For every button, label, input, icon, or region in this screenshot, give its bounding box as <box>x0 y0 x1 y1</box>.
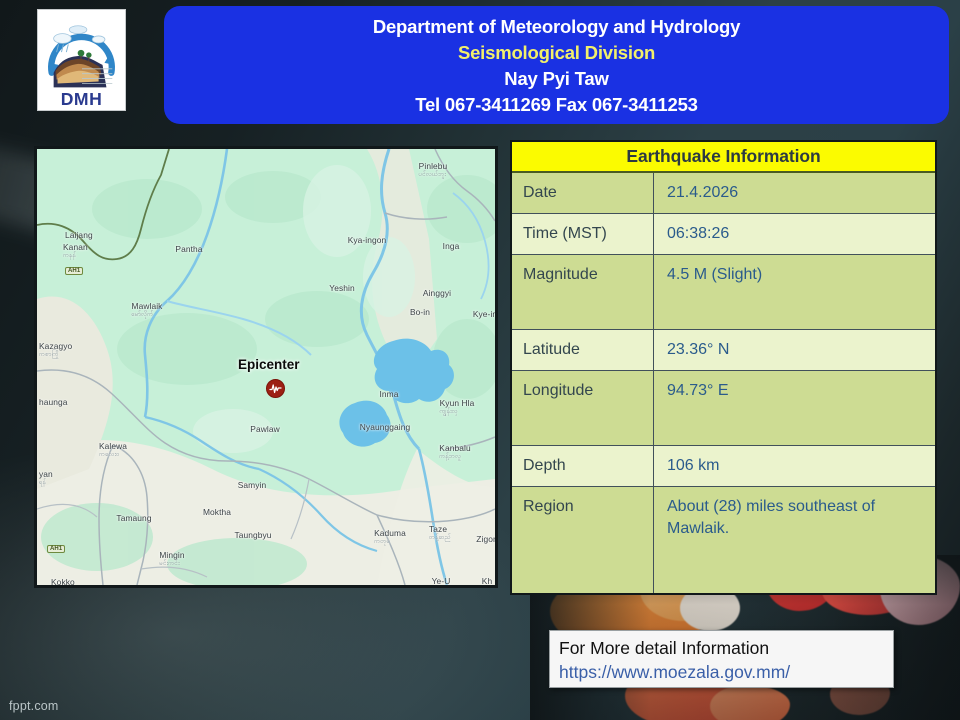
row-value: 4.5 M (Slight) <box>654 255 935 329</box>
dmh-logo: DMH <box>37 9 126 111</box>
header-line-department: Department of Meteorology and Hydrology <box>373 14 740 40</box>
info-table-body: Date 21.4.2026 Time (MST) 06:38:26 Magni… <box>512 173 935 593</box>
map-label: Minginမင်းကင်း <box>159 550 184 569</box>
table-row: Magnitude 4.5 M (Slight) <box>512 255 935 330</box>
header-banner: Department of Meteorology and Hydrology … <box>164 6 949 124</box>
map-label: Nyaunggaing <box>360 422 410 432</box>
map-label: Laijang <box>65 230 93 240</box>
row-label: Region <box>512 487 654 593</box>
map-label: Kyun Hlaကျွန်းလှ <box>440 398 475 417</box>
map-label: Pinlebuပင်လယ်ဘူး <box>419 161 448 180</box>
row-label: Longitude <box>512 371 654 445</box>
row-value: 106 km <box>654 446 935 486</box>
map-label: Taungbyu <box>234 530 271 540</box>
map-label: yanရန် <box>39 469 53 488</box>
row-value: About (28) miles southeast of Mawlaik. <box>654 487 935 593</box>
watermark: fppt.com <box>9 699 59 713</box>
epicenter-label: Epicenter <box>238 357 300 372</box>
row-label: Magnitude <box>512 255 654 329</box>
header-line-city: Nay Pyi Taw <box>504 66 608 92</box>
map-label: Kya-ingon <box>348 235 387 245</box>
map-label: Samyin <box>238 480 267 490</box>
more-detail-url[interactable]: https://www.moezala.gov.mm/ <box>559 660 886 684</box>
table-row: Region About (28) miles southeast of Maw… <box>512 487 935 593</box>
map-highway-badge: AH1 <box>65 267 83 275</box>
row-value: 06:38:26 <box>654 214 935 254</box>
dmh-logo-icon: DMH <box>38 10 125 110</box>
table-row: Time (MST) 06:38:26 <box>512 214 935 255</box>
map-label: Ainggyi <box>423 288 451 298</box>
more-detail-caption: For More detail Information <box>559 636 886 660</box>
map-label: Kokko <box>51 577 75 587</box>
row-label: Time (MST) <box>512 214 654 254</box>
row-label: Depth <box>512 446 654 486</box>
map-label: haunga <box>39 397 68 407</box>
header-line-division: Seismological Division <box>458 40 655 66</box>
table-row: Depth 106 km <box>512 446 935 487</box>
slide-background: DMH Department of Meteorology and Hydrol… <box>0 0 960 720</box>
map-label: Pantha <box>175 244 202 254</box>
seismograph-icon <box>269 382 282 395</box>
map-label: Kananကနန် <box>63 242 88 261</box>
map-label: Inga <box>443 241 460 251</box>
map-label: Pawlaw <box>250 424 279 434</box>
row-value: 23.36° N <box>654 330 935 370</box>
map-label: Kanbaluကန့်ဘလူ <box>439 443 470 462</box>
map-label: Kh <box>482 576 492 586</box>
earthquake-information-table: Earthquake Information Date 21.4.2026 Ti… <box>510 140 937 595</box>
map-label: Kadumaကတုမ <box>374 528 406 547</box>
map-label: Kye-in <box>473 309 497 319</box>
map-label: Tamaung <box>116 513 151 523</box>
more-detail-box: For More detail Information https://www.… <box>549 630 894 688</box>
map-label: Inma <box>379 389 398 399</box>
map-label: Tazeတန့်ဆည် <box>429 524 451 543</box>
map-label: Bo-in <box>410 307 430 317</box>
map-label: Zigon <box>476 534 497 544</box>
epicenter-marker[interactable] <box>266 379 285 398</box>
map-label: Mawlaikမော်လိုက် <box>132 301 163 320</box>
map-label: Kazagyoကစာကြို <box>39 341 72 360</box>
header-line-contact: Tel 067-3411269 Fax 067-3411253 <box>415 92 698 118</box>
table-row: Date 21.4.2026 <box>512 173 935 214</box>
map-highway-badge: AH1 <box>47 545 65 553</box>
row-label: Date <box>512 173 654 213</box>
row-value: 21.4.2026 <box>654 173 935 213</box>
table-row: Latitude 23.36° N <box>512 330 935 371</box>
map-label: Ye-U <box>432 576 451 586</box>
map-label: Moktha <box>203 507 231 517</box>
row-label: Latitude <box>512 330 654 370</box>
row-value: 94.73° E <box>654 371 935 445</box>
map-label: Yeshin <box>329 283 354 293</box>
info-table-title: Earthquake Information <box>512 142 935 173</box>
map-label: Kalewaကလေးဝ <box>99 441 127 460</box>
epicenter-map[interactable]: Pinlebuပင်လယ်ဘူး Laijang Kananကနန် AH1 K… <box>34 146 498 588</box>
table-row: Longitude 94.73° E <box>512 371 935 446</box>
svg-text:DMH: DMH <box>61 89 103 109</box>
